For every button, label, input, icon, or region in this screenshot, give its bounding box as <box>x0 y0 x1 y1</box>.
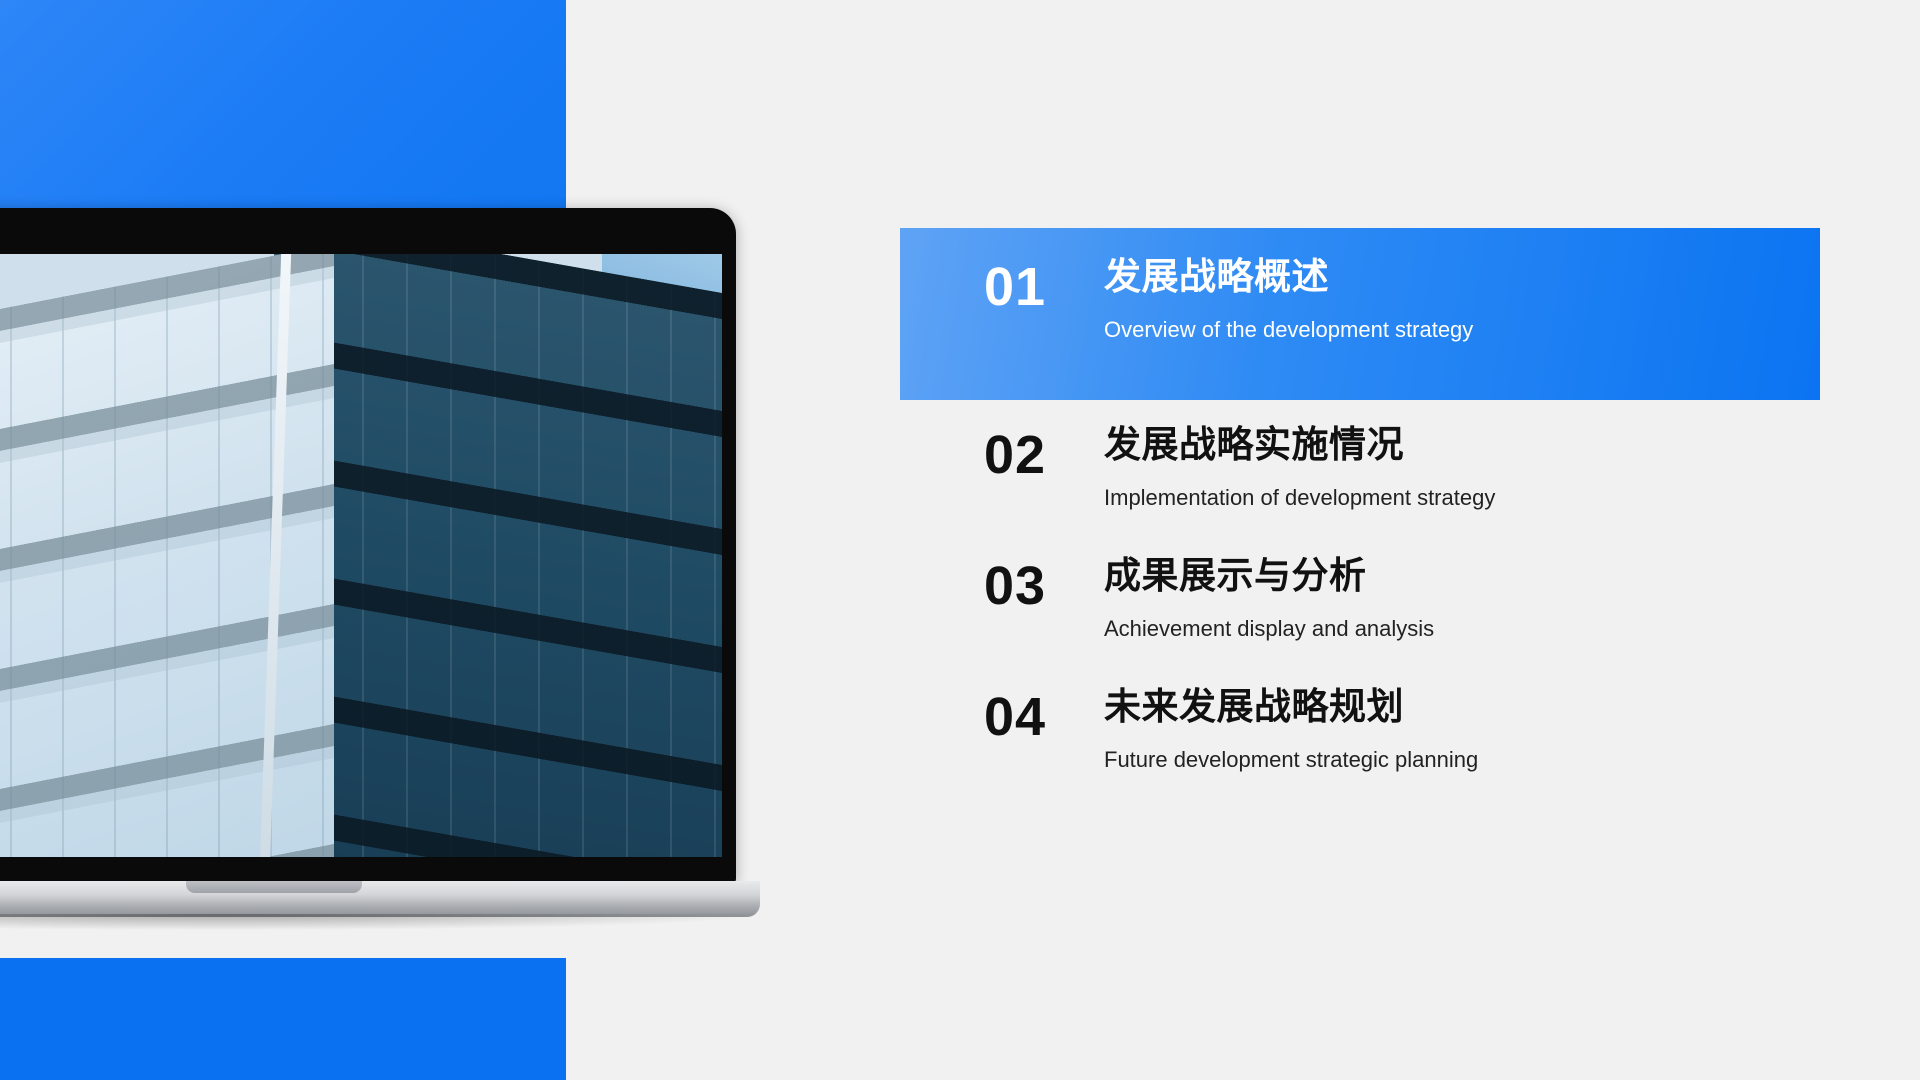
agenda-number: 01 <box>984 250 1104 314</box>
laptop-base <box>0 881 760 917</box>
agenda-text: 未来发展战略规划 Future development strategic pl… <box>1104 680 1478 775</box>
decor-blue-block-top <box>0 0 566 212</box>
agenda-item-03[interactable]: 03 成果展示与分析 Achievement display and analy… <box>900 531 1820 662</box>
laptop-mockup <box>0 208 848 908</box>
agenda-text: 发展战略概述 Overview of the development strat… <box>1104 250 1473 345</box>
agenda-number: 03 <box>984 549 1104 613</box>
agenda-number: 04 <box>984 680 1104 744</box>
photo-facade-right <box>274 254 722 857</box>
agenda-list: 01 发展战略概述 Overview of the development st… <box>900 228 1820 793</box>
presentation-slide: 01 发展战略概述 Overview of the development st… <box>0 0 1920 1080</box>
agenda-title: 发展战略概述 <box>1104 254 1473 300</box>
agenda-subtitle: Achievement display and analysis <box>1104 615 1434 644</box>
agenda-subtitle: Implementation of development strategy <box>1104 484 1495 513</box>
laptop-shadow <box>0 914 758 930</box>
agenda-number: 02 <box>984 418 1104 482</box>
agenda-item-04[interactable]: 04 未来发展战略规划 Future development strategic… <box>900 662 1820 793</box>
building-photo <box>0 254 722 857</box>
laptop-lid <box>0 208 736 883</box>
agenda-text: 成果展示与分析 Achievement display and analysis <box>1104 549 1434 644</box>
agenda-item-02[interactable]: 02 发展战略实施情况 Implementation of developmen… <box>900 400 1820 531</box>
agenda-title: 成果展示与分析 <box>1104 553 1434 599</box>
laptop-screen <box>0 254 722 857</box>
agenda-subtitle: Overview of the development strategy <box>1104 316 1473 345</box>
decor-blue-block-bottom <box>0 958 566 1080</box>
agenda-subtitle: Future development strategic planning <box>1104 746 1478 775</box>
agenda-item-01[interactable]: 01 发展战略概述 Overview of the development st… <box>900 228 1820 400</box>
laptop-notch <box>186 881 362 893</box>
agenda-title: 发展战略实施情况 <box>1104 422 1495 468</box>
agenda-text: 发展战略实施情况 Implementation of development s… <box>1104 418 1495 513</box>
agenda-title: 未来发展战略规划 <box>1104 684 1478 730</box>
